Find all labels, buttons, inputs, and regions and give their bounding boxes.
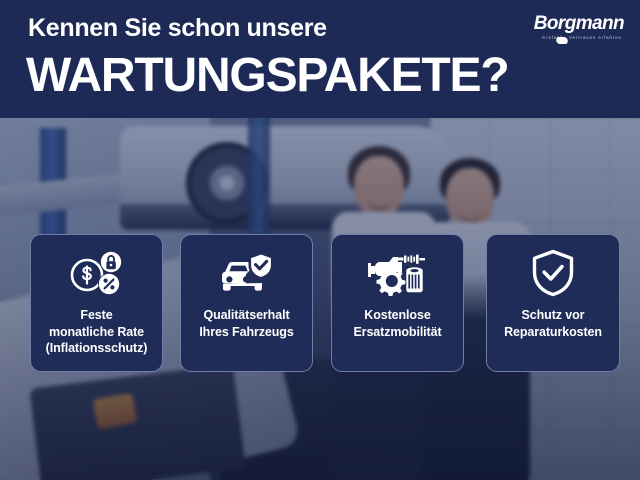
feature-card-label: Kostenlose Ersatzmobilität	[336, 307, 460, 340]
label-line: Qualitätserhalt	[185, 307, 309, 324]
feature-card-ersatzmobilitaet[interactable]: Kostenlose Ersatzmobilität	[331, 234, 464, 372]
logo-swoosh-icon	[555, 37, 569, 44]
maintenance-packages-banner: Kennen Sie schon unsere WARTUNGSPAKETE? …	[0, 0, 640, 480]
shield-check-icon	[517, 247, 589, 299]
car-shield-check-icon	[211, 247, 283, 299]
logo-wordmark: Borgmann	[520, 14, 624, 33]
feature-card-label: Feste monatliche Rate (Inflationsschutz)	[35, 307, 159, 357]
headline-kicker: Kennen Sie schon unsere	[28, 14, 327, 43]
logo-tagline: Krefeld · Vertrauen erfahren.	[520, 35, 624, 41]
label-line: Feste	[35, 307, 159, 324]
feature-card-label: Qualitätserhalt Ihres Fahrzeugs	[185, 307, 309, 340]
coin-lock-percent-icon	[61, 247, 133, 299]
feature-card-label: Schutz vor Reparaturkosten	[491, 307, 615, 340]
feature-card-row: Feste monatliche Rate (Inflationsschutz)	[0, 234, 640, 374]
feature-card-qualitaetserhalt[interactable]: Qualitätserhalt Ihres Fahrzeugs	[180, 234, 313, 372]
label-line: Ersatzmobilität	[336, 324, 460, 341]
label-line: Kostenlose	[336, 307, 460, 324]
borgmann-logo[interactable]: Borgmann Krefeld · Vertrauen erfahren.	[520, 14, 624, 44]
label-line: Ihres Fahrzeugs	[185, 324, 309, 341]
label-line: (Inflationsschutz)	[35, 340, 159, 357]
label-line: Schutz vor	[491, 307, 615, 324]
banner-header: Kennen Sie schon unsere WARTUNGSPAKETE? …	[0, 0, 640, 118]
engine-gear-filter-icon	[362, 247, 434, 299]
label-line: monatliche Rate	[35, 324, 159, 341]
label-line: Reparaturkosten	[491, 324, 615, 341]
feature-card-reparaturkosten[interactable]: Schutz vor Reparaturkosten	[486, 234, 620, 372]
feature-card-feste-rate[interactable]: Feste monatliche Rate (Inflationsschutz)	[30, 234, 163, 372]
headline-main: WARTUNGSPAKETE?	[26, 48, 508, 103]
